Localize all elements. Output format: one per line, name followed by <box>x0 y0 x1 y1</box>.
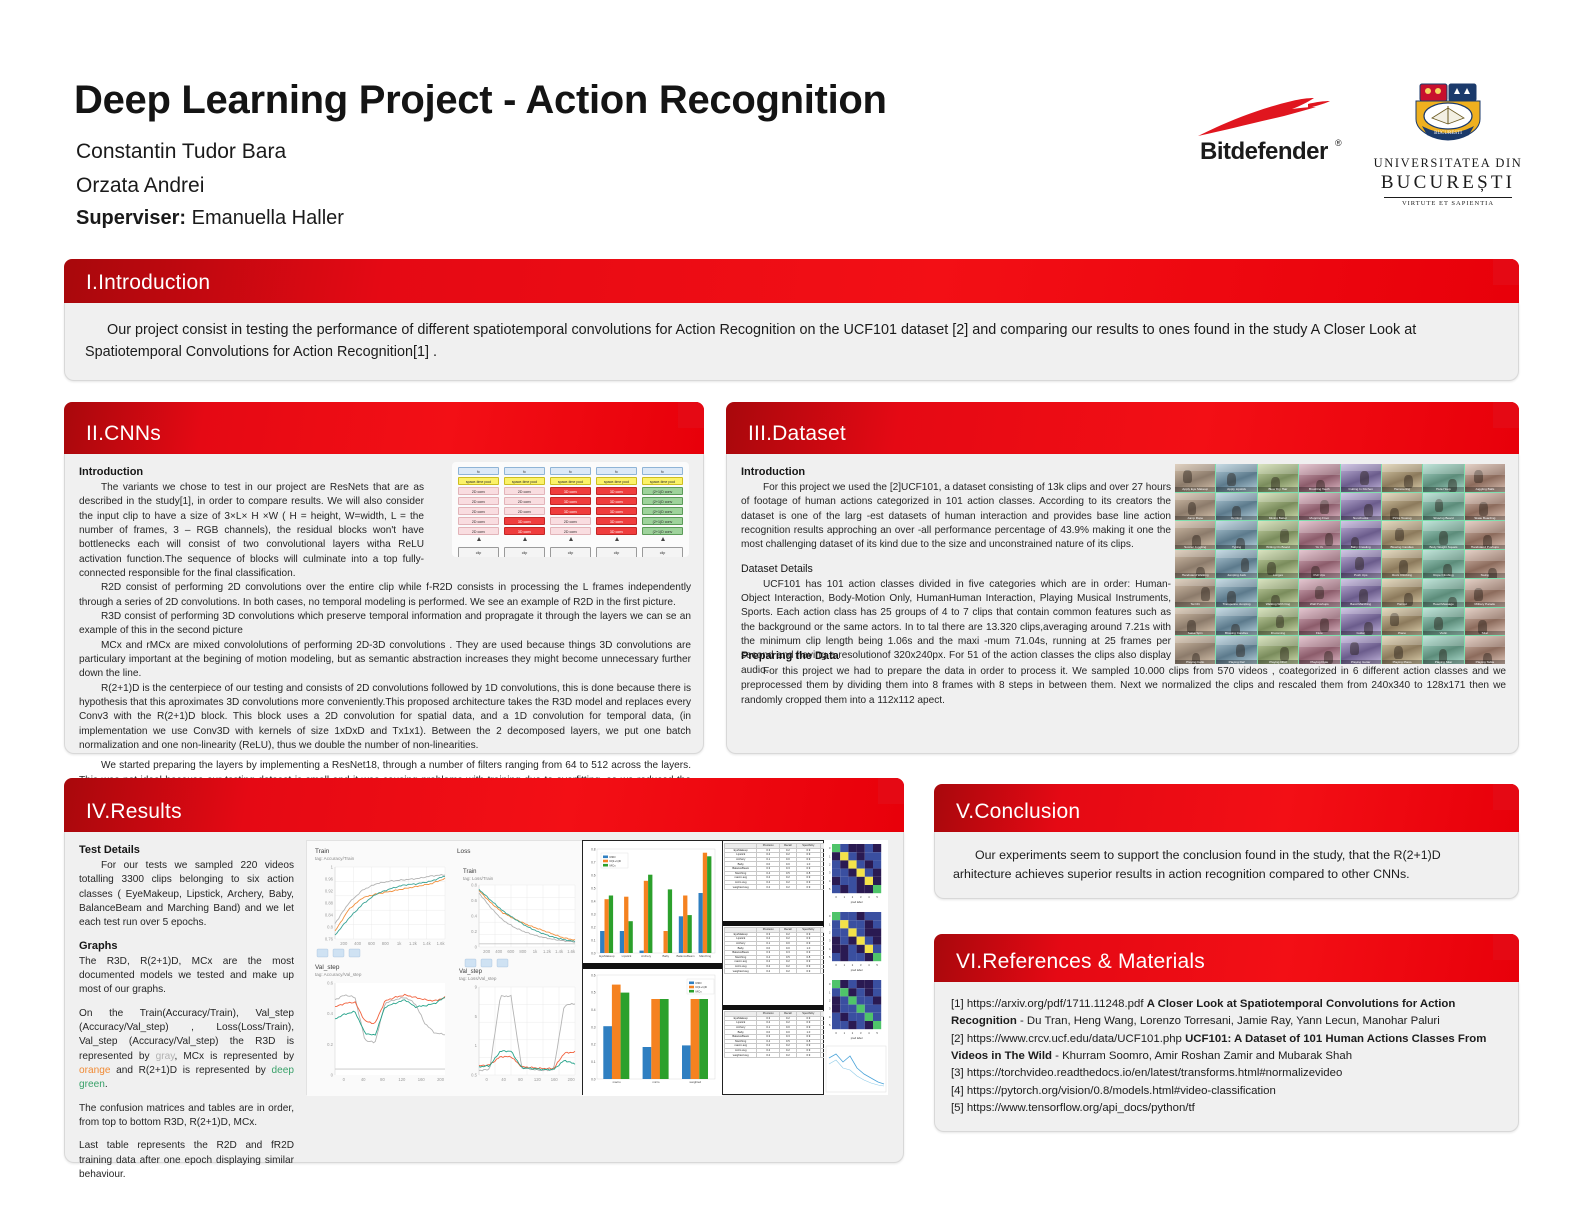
thumbnail-caption: Yo Yo <box>1299 545 1339 549</box>
ucf101-class-thumbnail: Drumming <box>1258 608 1298 636</box>
thumbnail-caption: Wall Pushups <box>1299 602 1339 606</box>
svg-text:EyeMakeup: EyeMakeup <box>599 954 615 958</box>
reference-url[interactable]: https://www.crcv.ucf.edu/data/UCF101.php <box>967 1033 1182 1045</box>
section-conclusion-title: V.Conclusion <box>956 800 1080 824</box>
svg-text:0.3: 0.3 <box>591 912 596 916</box>
svg-text:0.84: 0.84 <box>325 913 334 918</box>
reference-number: [2] <box>951 1033 964 1045</box>
svg-text:macro: macro <box>613 1080 621 1084</box>
cnns-paragraph-1: The variants we chose to test in our pro… <box>79 481 424 581</box>
thumbnail-caption: Salsa Spin <box>1175 631 1215 635</box>
svg-text:1.6k: 1.6k <box>567 949 576 954</box>
section-references-body: [1] https://arxiv.org/pdf/1711.11248.pdf… <box>934 982 1519 1132</box>
ucf101-class-thumbnail: Yo Yo <box>1299 521 1339 549</box>
arch-block-conv: 2D conv <box>458 497 499 505</box>
thumbnail-caption: Shaving Beard <box>1423 516 1463 520</box>
thumbnail-caption: Pull Ups <box>1299 573 1339 577</box>
reference-item[interactable]: [3] https://torchvideo.readthedocs.io/en… <box>951 1065 1502 1082</box>
university-name-line2: BUCUREȘTI <box>1372 172 1524 194</box>
ucf101-class-thumbnail: Pull Ups <box>1299 550 1339 578</box>
ucf101-class-thumbnail: Haircut <box>1382 579 1422 607</box>
section-introduction: I.Introduction Our project consist in te… <box>64 259 1519 381</box>
thumbnail-caption: Military Parade <box>1465 602 1505 606</box>
reference-url[interactable]: https://www.tensorflow.org/api_docs/pyth… <box>967 1102 1195 1114</box>
thumbnail-caption: Drumming <box>1258 631 1298 635</box>
arch-block-conv: 2D conv <box>458 487 499 495</box>
svg-text:BalanceBeam: BalanceBeam <box>677 954 696 958</box>
ucf101-class-thumbnail: Rock Climbing <box>1382 550 1422 578</box>
svg-text:0.5: 0.5 <box>591 886 596 890</box>
svg-text:tag: Accuracy/Train: tag: Accuracy/Train <box>315 856 355 861</box>
thumbnail-caption: Hula Hoop <box>1423 487 1463 491</box>
ucf101-class-thumbnail: Blow Dry Hair <box>1258 464 1298 492</box>
results-text-block: Test Details For our tests we sampled 22… <box>79 844 294 1182</box>
ucf101-class-thumbnail: Hammering <box>1382 464 1422 492</box>
section-results-header: IV.Results <box>64 778 904 832</box>
table-cell: 0.9 <box>796 1053 820 1058</box>
arch-column-1: fcspace-time pool2D conv2D conv2D conv3D… <box>504 467 545 557</box>
section-references-header: VI.References & Materials <box>934 934 1519 982</box>
reference-item[interactable]: [2] https://www.crcv.ucf.edu/data/UCF101… <box>951 1031 1502 1066</box>
reference-number: [5] <box>951 1102 964 1114</box>
arch-block-conv: 3D conv <box>550 497 591 505</box>
arch-block-conv: 2D conv <box>550 517 591 525</box>
arch-block-clip: clip <box>596 547 637 557</box>
university-name-line1: UNIVERSITATEA DIN <box>1372 156 1524 171</box>
section-dataset: III.Dataset Apply Eye MakeupApply Lipsti… <box>726 402 1519 754</box>
thumbnail-caption: Piano <box>1382 631 1422 635</box>
thumbnail-caption: Hammering <box>1382 487 1422 491</box>
svg-text:0.0: 0.0 <box>591 1077 596 1081</box>
ucf101-class-thumbnail: Shaving Beard <box>1423 493 1463 521</box>
svg-text:0.3: 0.3 <box>591 1025 596 1029</box>
university-crest-icon: BUCURESTI <box>1402 80 1494 148</box>
author-name-2: Orzata Andrei <box>76 174 204 198</box>
ucf101-class-thumbnail: Hula Hoop <box>1423 464 1463 492</box>
thumbnail-caption: Blowing Candles <box>1216 631 1256 635</box>
thumbnail-caption: Blowing Candles <box>1382 545 1422 549</box>
arch-block-fc: fc <box>458 467 499 475</box>
reference-item[interactable]: [5] https://www.tensorflow.org/api_docs/… <box>951 1100 1502 1117</box>
reference-item[interactable]: [4] https://pytorch.org/vision/0.8/model… <box>951 1083 1502 1100</box>
thumbnail-caption: Violin <box>1423 631 1463 635</box>
arch-block-conv: 3D conv <box>596 497 637 505</box>
svg-text:1.2k: 1.2k <box>409 941 418 946</box>
supervisor-name: Emanuella Haller <box>192 207 344 229</box>
results-paragraph-1: For our tests we sampled 220 videos tota… <box>79 859 294 931</box>
bitdefender-registered-mark: ® <box>1335 138 1342 148</box>
panel-corner-accent <box>1493 934 1519 960</box>
ucf101-class-thumbnail: Nunchucks <box>1341 493 1381 521</box>
arch-block-conv: 2D conv <box>458 517 499 525</box>
arch-block-pool: space-time pool <box>504 477 545 485</box>
bar-charts-svg: 0.00.10.20.30.40.50.60.70.8EyeMakeupLips… <box>583 841 723 1096</box>
university-of-bucharest-logo: BUCURESTI UNIVERSITATEA DIN BUCUREȘTI VI… <box>1372 80 1524 204</box>
ucf101-class-thumbnail: Trampoline Jumping <box>1216 579 1256 607</box>
ucf101-class-thumbnail: Typing <box>1216 521 1256 549</box>
results-p3-part-c: and R(2+1)D is represented by <box>110 1065 271 1076</box>
university-divider <box>1384 197 1512 198</box>
dataset-paragraph-1: For this project we used the [2]UCF101, … <box>741 481 1171 553</box>
ucf101-class-thumbnail: Swing <box>1465 550 1505 578</box>
per-class-bar-charts: 0.00.10.20.30.40.50.60.70.8EyeMakeupLips… <box>582 840 722 1095</box>
ucf101-class-thumbnail: Blowing Candles <box>1382 521 1422 549</box>
svg-text:1.4k: 1.4k <box>423 941 432 946</box>
section-conclusion-body: Our experiments seem to support the conc… <box>934 832 1519 899</box>
svg-text:0.92: 0.92 <box>325 889 334 894</box>
thumbnail-caption: Band Marching <box>1341 602 1381 606</box>
arch-block-conv: 3D conv <box>550 507 591 515</box>
svg-text:0.4: 0.4 <box>591 899 596 903</box>
arch-arrow-icon <box>569 537 573 541</box>
svg-text:BUCURESTI: BUCURESTI <box>1434 131 1462 136</box>
ucf101-class-thumbnail: Guitar <box>1341 608 1381 636</box>
reference-number: [3] <box>951 1067 964 1079</box>
thumbnail-caption: Brushing Teeth <box>1299 487 1339 491</box>
arch-block-conv: 3D conv <box>596 527 637 535</box>
svg-text:0.6: 0.6 <box>327 981 333 986</box>
svg-text:Archery: Archery <box>641 954 652 958</box>
ucf101-class-thumbnail: Pizza Tossing <box>1382 493 1422 521</box>
svg-text:0.6: 0.6 <box>591 873 596 877</box>
results-p3-part-d: . <box>105 1079 108 1090</box>
ucf101-class-thumbnail: Jump Rope <box>1175 493 1215 521</box>
svg-text:40: 40 <box>501 1077 506 1082</box>
svg-text:0.1: 0.1 <box>591 938 596 942</box>
svg-text:0.76: 0.76 <box>325 937 334 942</box>
svg-text:160: 160 <box>551 1077 559 1082</box>
svg-text:MCx: MCx <box>610 863 617 867</box>
ucf101-class-thumbnail: Apply Eye Makeup <box>1175 464 1215 492</box>
thumbnail-caption: Mixing Batter <box>1258 516 1298 520</box>
table-cell: 0.9 <box>796 885 820 890</box>
ucf101-class-thumbnail: Tai Chi <box>1175 579 1215 607</box>
svg-text:tag: Loss/Train: tag: Loss/Train <box>463 876 494 881</box>
arch-column-2: fcspace-time pool3D conv3D conv3D conv2D… <box>550 467 591 557</box>
ucf101-class-thumbnail: Push Ups <box>1341 550 1381 578</box>
ucf101-class-thumbnail: Brushing Teeth <box>1299 464 1339 492</box>
svg-text:0.8: 0.8 <box>327 925 333 930</box>
ucf101-class-thumbnail: Juggling Balls <box>1465 464 1505 492</box>
table-cell: 0.2 <box>780 885 797 890</box>
svg-text:weighted: weighted <box>690 1080 702 1084</box>
panel-corner-accent <box>1493 402 1519 428</box>
svg-text:0.4: 0.4 <box>471 914 477 919</box>
ucf101-class-thumbnail: Lunges <box>1258 550 1298 578</box>
svg-text:tag: Accuracy/Val_step: tag: Accuracy/Val_step <box>315 972 362 977</box>
thumbnail-caption: Swing <box>1465 573 1505 577</box>
svg-text:0.2: 0.2 <box>591 925 596 929</box>
arch-block-pool: space-time pool <box>642 477 683 485</box>
ucf101-class-thumbnail: Wall Pushups <box>1299 579 1339 607</box>
panel-corner-accent <box>678 402 704 428</box>
section-conclusion: V.Conclusion Our experiments seem to sup… <box>934 784 1519 899</box>
ucf101-class-thumbnail: Skate Boarding <box>1465 493 1505 521</box>
ucf101-class-thumbnail: Head Massage <box>1423 579 1463 607</box>
thumbnail-caption: Mopping Floor <box>1299 516 1339 520</box>
svg-text:0.8: 0.8 <box>471 883 477 888</box>
arch-block-fc: fc <box>596 467 637 475</box>
arch-block-pool: space-time pool <box>596 477 637 485</box>
page-title: Deep Learning Project - Action Recogniti… <box>74 78 887 123</box>
svg-text:800: 800 <box>519 949 527 954</box>
table-cell: 0.2 <box>757 885 780 890</box>
svg-text:0.2: 0.2 <box>471 929 477 934</box>
thumbnail-caption: Apply Lipstick <box>1216 487 1256 491</box>
section-cnns: II.CNNs fcspace-time pool2D conv2D conv2… <box>64 402 704 754</box>
svg-text:1.4k: 1.4k <box>555 949 564 954</box>
ucf101-class-thumbnail: Military Parade <box>1465 579 1505 607</box>
arch-block-conv: 2D conv <box>550 527 591 535</box>
arch-block-conv: 2D conv <box>504 497 545 505</box>
svg-text:200: 200 <box>483 949 491 954</box>
svg-text:0.2: 0.2 <box>591 1043 596 1047</box>
cnns-paragraph-5: R(2+1)D is the centerpiece of our testin… <box>79 682 691 754</box>
arch-arrow-icon <box>661 537 665 541</box>
arch-block-conv: (2+1)D conv <box>642 517 683 525</box>
section-introduction-title: I.Introduction <box>86 271 210 295</box>
results-paragraph-2: The R3D, R(2+1)D, MCx are the most docum… <box>79 955 294 998</box>
thumbnail-caption: Sitar <box>1465 631 1505 635</box>
reference-number: [1] <box>951 998 964 1010</box>
table-cell: weighted avg <box>725 1053 757 1058</box>
ucf101-class-thumbnail: Soccer Juggling <box>1175 521 1215 549</box>
svg-text:0.6: 0.6 <box>471 898 477 903</box>
ucf101-class-thumbnail: Walking With Dog <box>1258 579 1298 607</box>
svg-text:Train: Train <box>463 869 476 875</box>
ucf101-class-thumbnail: Body Weight Squats <box>1423 521 1463 549</box>
panel-corner-accent <box>1493 784 1519 810</box>
ucf101-class-thumbnail: Rope Climbing <box>1423 550 1463 578</box>
svg-text:0.0: 0.0 <box>591 951 596 955</box>
ucf101-class-thumbnail: Apply Lipstick <box>1216 464 1256 492</box>
thumbnail-caption: Walking With Dog <box>1258 602 1298 606</box>
svg-text:Lipstick: Lipstick <box>622 954 632 958</box>
arch-block-conv: 3D conv <box>596 517 637 525</box>
thumbnail-caption: Skate Boarding <box>1465 516 1505 520</box>
svg-text:Marching: Marching <box>699 954 711 958</box>
results-paragraph-5: Last table represents the R2D and fR2D t… <box>79 1139 294 1182</box>
arch-arrow-icon <box>477 537 481 541</box>
thumbnail-caption: Writing On Board <box>1258 545 1298 549</box>
svg-text:200: 200 <box>568 1077 576 1082</box>
svg-text:120: 120 <box>398 1077 406 1082</box>
section-cnns-header: II.CNNs <box>64 402 704 454</box>
svg-text:200: 200 <box>340 941 348 946</box>
svg-text:0.88: 0.88 <box>325 901 334 906</box>
svg-text:400: 400 <box>354 941 362 946</box>
ucf101-class-thumbnail: Jumping Jack <box>1216 550 1256 578</box>
section-dataset-title: III.Dataset <box>748 422 846 446</box>
arch-column-0: fcspace-time pool2D conv2D conv2D conv2D… <box>458 467 499 557</box>
arch-block-clip: clip <box>550 547 591 557</box>
ucf101-class-thumbnail: Mixing Batter <box>1258 493 1298 521</box>
thumbnail-caption: Trampoline Jumping <box>1216 602 1256 606</box>
section-references: VI.References & Materials [1] https://ar… <box>934 934 1519 1132</box>
poster-header: Deep Learning Project - Action Recogniti… <box>0 0 1584 245</box>
arch-block-fc: fc <box>642 467 683 475</box>
cnn-architecture-diagram: fcspace-time pool2D conv2D conv2D conv2D… <box>452 462 689 557</box>
section-results-title: IV.Results <box>86 800 182 824</box>
author-name-1: Constantin Tudor Bara <box>76 140 286 164</box>
section-results-body: Test Details For our tests we sampled 22… <box>64 832 904 1163</box>
thumbnail-caption: Handstand Walking <box>1175 573 1215 577</box>
table-cell: weighted avg <box>725 969 757 974</box>
thumbnail-caption: Knitting <box>1216 516 1256 520</box>
svg-text:pred label: pred label <box>851 968 863 972</box>
reference-url[interactable]: https://arxiv.org/pdf/1711.11248.pdf <box>967 998 1144 1010</box>
legend-color-gray: gray <box>156 1051 175 1062</box>
thumbnail-caption: Tai Chi <box>1175 602 1215 606</box>
table-cell: 0.2 <box>757 1053 780 1058</box>
cnns-paragraph-3: R3D consist of performing 3D convolution… <box>79 610 691 639</box>
cnns-paragraph-2: R2D consist of performing 2D convolution… <box>79 581 691 610</box>
results-graphs-subheading: Graphs <box>79 940 294 952</box>
ucf101-class-thumbnail: Band Marching <box>1341 579 1381 607</box>
bitdefender-wordmark: Bitdefender <box>1200 138 1328 166</box>
thumbnail-caption: Cutting In Kitchen <box>1341 487 1381 491</box>
section-conclusion-header: V.Conclusion <box>934 784 1519 832</box>
results-paragraph-4: The confusion matrices and tables are in… <box>79 1102 294 1131</box>
table-cell: 0.9 <box>796 969 820 974</box>
table-cell: weighted avg <box>725 885 757 890</box>
reference-list: [1] https://arxiv.org/pdf/1711.11248.pdf… <box>951 996 1502 1117</box>
thumbnail-caption: Baby Crawling <box>1341 545 1381 549</box>
tensorboard-line-charts: Traintag: Accuracy/Train0.760.80.840.880… <box>306 840 582 1095</box>
tensorboard-charts-svg: Traintag: Accuracy/Train0.760.80.840.880… <box>307 841 583 1096</box>
svg-text:0.6: 0.6 <box>591 973 596 977</box>
svg-text:Baby: Baby <box>663 954 670 958</box>
ucf101-class-thumbnail: Cutting In Kitchen <box>1341 464 1381 492</box>
svg-text:1.6k: 1.6k <box>437 941 446 946</box>
table-cell: 0.2 <box>757 969 780 974</box>
thumbnail-caption: Guitar <box>1341 631 1381 635</box>
results-p3-part-b: , MCx is represented by <box>175 1051 295 1062</box>
conclusion-paragraph: Our experiments seem to support the conc… <box>953 846 1500 883</box>
ucf101-class-thumbnail: Handstand Pushups <box>1465 521 1505 549</box>
reference-url[interactable]: https://torchvideo.readthedocs.io/en/lat… <box>967 1067 1342 1079</box>
svg-text:MCx: MCx <box>696 989 703 993</box>
section-cnns-body: fcspace-time pool2D conv2D conv2D conv2D… <box>64 454 704 754</box>
svg-text:80: 80 <box>380 1077 385 1082</box>
section-references-title: VI.References & Materials <box>956 950 1205 974</box>
thumbnail-caption: Apply Eye Makeup <box>1175 487 1215 491</box>
svg-text:Val_step: Val_step <box>315 964 340 971</box>
panel-corner-accent <box>878 778 904 804</box>
section-dataset-header: III.Dataset <box>726 402 1519 454</box>
svg-text:0.4: 0.4 <box>327 1011 333 1016</box>
arch-block-conv: (2+1)D conv <box>642 507 683 515</box>
ucf101-class-thumbnail: Writing On Board <box>1258 521 1298 549</box>
metrics-tables: PrecisionRecallSpecificityF1-scoreEyeMak… <box>722 840 824 1095</box>
arch-block-conv: 3D conv <box>596 507 637 515</box>
thumbnail-caption: Nunchucks <box>1341 516 1381 520</box>
confusion-matrix-svg: 001122334455pred label001122334455pred l… <box>824 840 888 1095</box>
arch-block-conv: (2+1)D conv <box>642 527 683 535</box>
thumbnail-caption: Soccer Juggling <box>1175 545 1215 549</box>
arch-block-pool: space-time pool <box>550 477 591 485</box>
ucf101-class-thumbnail: Mopping Floor <box>1299 493 1339 521</box>
section-dataset-body: Apply Eye MakeupApply LipstickBlow Dry H… <box>726 454 1519 754</box>
ucf101-class-thumbnail: Flute <box>1299 608 1339 636</box>
reference-item[interactable]: [1] https://arxiv.org/pdf/1711.11248.pdf… <box>951 996 1502 1031</box>
reference-number: [4] <box>951 1085 964 1097</box>
dataset-prep-subheading: Preparing the Data <box>741 650 1506 662</box>
introduction-paragraph: Our project consist in testing the perfo… <box>85 319 1498 364</box>
arch-block-fc: fc <box>550 467 591 475</box>
arch-block-conv: 3D conv <box>550 487 591 495</box>
legend-color-orange: orange <box>79 1065 110 1076</box>
arch-block-pool: space-time pool <box>458 477 499 485</box>
svg-text:0.7: 0.7 <box>591 860 596 864</box>
reference-authors: - Khurram Soomro, Amir Roshan Zamir and … <box>1052 1050 1352 1062</box>
supervisor-label: Superviser: <box>76 207 186 229</box>
arch-block-clip: clip <box>504 547 545 557</box>
confusion-matrices: 001122334455pred label001122334455pred l… <box>824 840 888 1095</box>
arch-block-fc: fc <box>504 467 545 475</box>
ucf101-class-thumbnail: Knitting <box>1216 493 1256 521</box>
arch-column-4: fcspace-time pool(2+1)D conv(2+1)D conv(… <box>642 467 683 557</box>
thumbnail-caption: Pizza Tossing <box>1382 516 1422 520</box>
cnns-paragraph-4: MCx and rMCx are mixed convololutions of… <box>79 639 691 682</box>
thumbnail-caption: Flute <box>1299 631 1339 635</box>
section-results: IV.Results Test Details For our tests we… <box>64 778 904 1163</box>
thumbnail-caption: Blow Dry Hair <box>1258 487 1298 491</box>
svg-text:0.4: 0.4 <box>591 1008 596 1012</box>
thumbnail-caption: Juggling Balls <box>1465 487 1505 491</box>
thumbnail-caption: Lunges <box>1258 573 1298 577</box>
svg-text:micro: micro <box>652 1080 659 1084</box>
results-test-subheading: Test Details <box>79 844 294 856</box>
arch-block-conv: (2+1)D conv <box>642 487 683 495</box>
arch-block-conv: 2D conv <box>504 487 545 495</box>
thumbnail-caption: Jumping Jack <box>1216 573 1256 577</box>
panel-corner-accent <box>1493 259 1519 285</box>
svg-text:0.5: 0.5 <box>471 1073 477 1078</box>
results-paragraph-3: On the Train(Accuracy/Train), Val_step (… <box>79 1007 294 1093</box>
thumbnail-caption: Rock Climbing <box>1382 573 1422 577</box>
svg-text:1.2k: 1.2k <box>543 949 552 954</box>
thumbnail-caption: Rope Climbing <box>1423 573 1463 577</box>
university-motto: VIRTUTE ET SAPIENTIA <box>1372 200 1524 207</box>
thumbnail-caption: Push Ups <box>1341 573 1381 577</box>
table-cell: 0.2 <box>780 1053 797 1058</box>
svg-text:0.1: 0.1 <box>591 1060 596 1064</box>
thumbnail-caption: Head Massage <box>1423 602 1463 606</box>
arch-block-conv: 3D conv <box>596 487 637 495</box>
svg-text:Loss: Loss <box>457 848 471 855</box>
dataset-text-block: Introduction For this project we used th… <box>741 466 1171 678</box>
section-introduction-body: Our project consist in testing the perfo… <box>64 303 1519 381</box>
arch-block-conv: 2D conv <box>504 507 545 515</box>
svg-text:160: 160 <box>418 1077 426 1082</box>
bitdefender-swoosh-icon <box>1196 96 1348 140</box>
svg-text:pred label: pred label <box>851 1036 863 1040</box>
reference-authors: - Du Tran, Heng Wang, Lorenzo Torresani,… <box>1017 1015 1440 1027</box>
arch-block-conv: (2+1)D conv <box>642 497 683 505</box>
arch-column-3: fcspace-time pool3D conv3D conv3D conv3D… <box>596 467 637 557</box>
svg-text:0.96: 0.96 <box>325 877 334 882</box>
section-introduction-header: I.Introduction <box>64 259 1519 303</box>
svg-text:600: 600 <box>368 941 376 946</box>
svg-text:0.5: 0.5 <box>591 991 596 995</box>
svg-text:0.8: 0.8 <box>591 847 596 851</box>
table-cell: 0.2 <box>780 969 797 974</box>
bitdefender-logo: Bitdefender ® <box>1196 96 1348 176</box>
reference-url[interactable]: https://pytorch.org/vision/0.8/models.ht… <box>967 1085 1276 1097</box>
svg-text:tag: Loss/Val_step: tag: Loss/Val_step <box>459 976 497 981</box>
arch-arrow-icon <box>523 537 527 541</box>
